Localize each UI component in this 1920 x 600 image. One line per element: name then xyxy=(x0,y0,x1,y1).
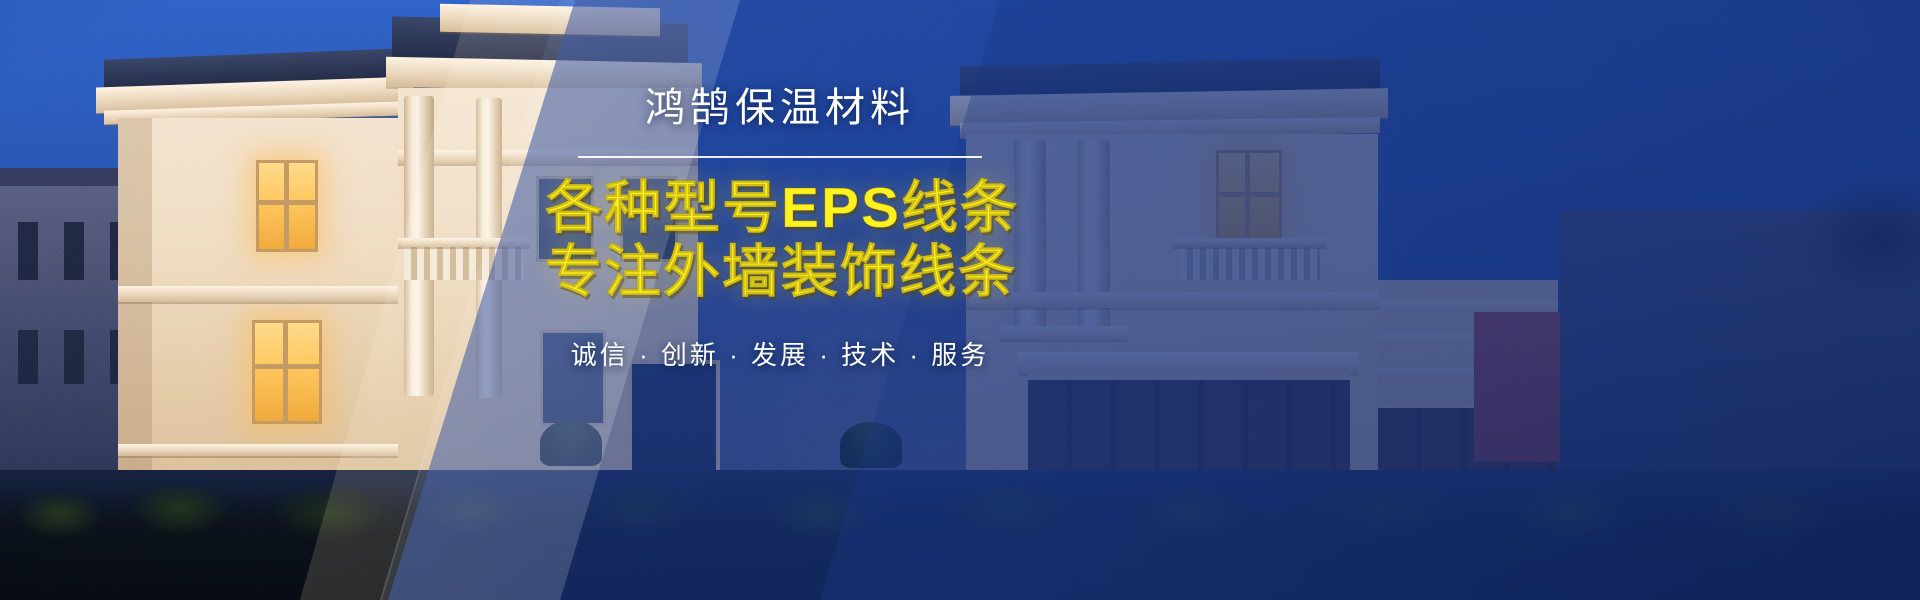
promotional-banner: 鸿鹄保温材料 各种型号EPS线条 专注外墙装饰线条 诚信 · 创新 · 发展 ·… xyxy=(0,0,1920,600)
banner-copy-block: 鸿鹄保温材料 各种型号EPS线条 专注外墙装饰线条 诚信 · 创新 · 发展 ·… xyxy=(545,86,1015,372)
headline-line-1: 各种型号EPS线条 xyxy=(545,176,1015,240)
tagline: 诚信 · 创新 · 发展 · 技术 · 服务 xyxy=(545,338,1015,372)
headline-line-2: 专注外墙装饰线条 xyxy=(545,240,1015,304)
brand-name: 鸿鹄保温材料 xyxy=(545,86,1015,130)
divider-rule xyxy=(578,156,982,158)
headline-group: 各种型号EPS线条 专注外墙装饰线条 xyxy=(545,176,1015,304)
